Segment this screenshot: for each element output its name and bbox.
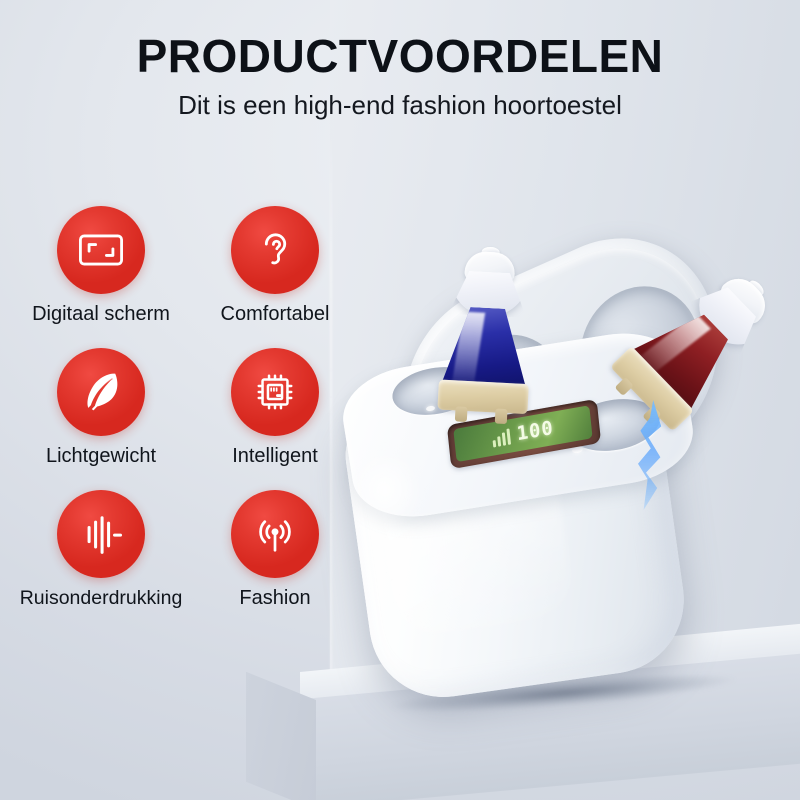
feature-badge <box>57 348 145 436</box>
hearing-aid-left-blue <box>438 250 537 434</box>
aid-charging-pin <box>455 406 468 422</box>
feature-badge <box>231 348 319 436</box>
feature-list: Digitaal scherm Comfortabel Lichtgewicht <box>18 206 358 610</box>
feature-badge <box>57 490 145 578</box>
sound-wave-icon <box>75 508 127 560</box>
infographic-canvas: 100 PRODUCTVOORDELEN Dit is een high-end… <box>0 0 800 800</box>
feather-icon <box>75 366 127 418</box>
feature-badge <box>57 206 145 294</box>
chip-icon <box>249 366 301 418</box>
aid-shell <box>441 306 531 390</box>
page-subtitle: Dit is een high-end fashion hoortoestel <box>0 90 800 121</box>
feature-label: Fashion <box>239 587 310 610</box>
feature-label: Digitaal scherm <box>32 303 170 326</box>
feature-badge <box>231 206 319 294</box>
feature-label: Ruisonderdrukking <box>20 587 183 610</box>
broadcast-icon <box>249 508 301 560</box>
feature-item-fashion[interactable]: Fashion <box>192 490 358 610</box>
page-title: PRODUCTVOORDELEN <box>0 32 800 80</box>
feature-label: Intelligent <box>232 445 318 468</box>
ear-icon <box>249 224 301 276</box>
aid-contact-base <box>437 379 528 414</box>
feature-item-digitaal-scherm[interactable]: Digitaal scherm <box>18 206 184 326</box>
feature-label: Comfortabel <box>221 303 330 326</box>
aid-shell-highlight <box>453 311 486 382</box>
feature-item-comfortabel[interactable]: Comfortabel <box>192 206 358 326</box>
feature-badge <box>231 490 319 578</box>
aid-charging-pin <box>495 408 508 424</box>
screen-icon <box>75 224 127 276</box>
feature-item-lichtgewicht[interactable]: Lichtgewicht <box>18 348 184 468</box>
feature-item-intelligent[interactable]: Intelligent <box>192 348 358 468</box>
feature-label: Lichtgewicht <box>46 445 156 468</box>
feature-item-ruisonderdrukking[interactable]: Ruisonderdrukking <box>18 490 184 610</box>
